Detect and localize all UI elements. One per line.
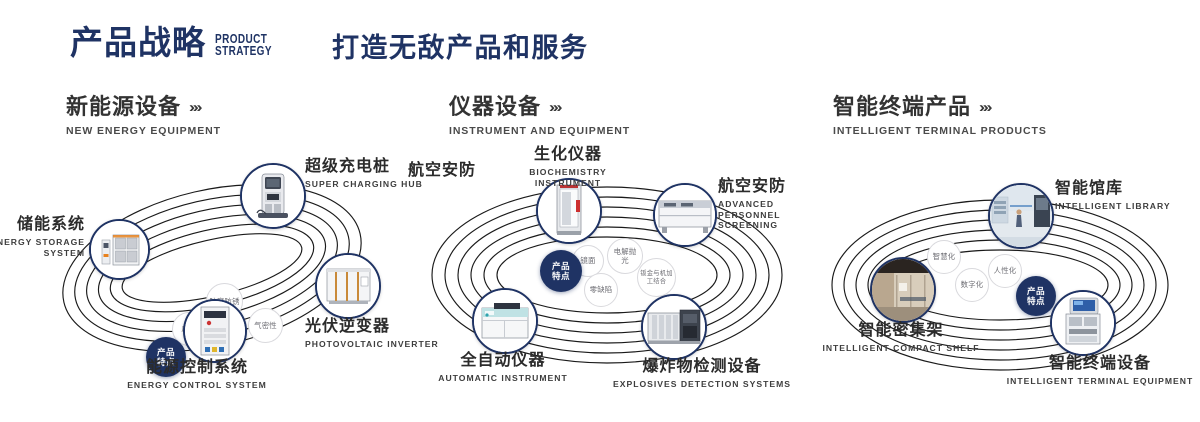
section-heading-cn: 新能源设备 ››› [66, 96, 221, 118]
feature-bubble-label: 钣金与机加工结合 [640, 270, 673, 285]
node-label-en: INTELLIGENT TERMINAL EQUIPMENT [1000, 376, 1200, 387]
node-label-cn: 智能终端设备 [1000, 355, 1200, 373]
node-label-automatic-instrument: 全自动仪器 AUTOMATIC INSTRUMENT [438, 352, 568, 384]
feature-bubble: 数字化 [955, 268, 989, 302]
chevron-right-icon: ››› [549, 100, 560, 115]
section-heading-cn: 智能终端产品 ››› [833, 96, 1047, 118]
cluster-new-energy: 户外 防腐防锈 防水防尘 气密性 产品 特点 [0, 150, 420, 420]
node-advanced-personnel-screening[interactable] [653, 183, 717, 247]
compact-shelf-icon [872, 259, 934, 321]
node-intelligent-compact-shelf[interactable] [870, 257, 936, 323]
node-label-cn: 生化仪器 [523, 146, 613, 164]
node-super-charging-hub[interactable] [240, 163, 306, 229]
core-bubble-line1: 产品 [1027, 286, 1045, 296]
section-heading-cn-text: 仪器设备 [449, 96, 541, 118]
control-cabinet-icon [185, 301, 245, 361]
core-bubble-label: 产品 特点 [552, 261, 570, 282]
poster-root: 产品战略 PRODUCT STRATEGY 打造无敌产品和服务 新能源设备 ››… [0, 0, 1200, 422]
node-label-explosives-detection-systems: 爆炸物检测设备 EXPLOSIVES DETECTION SYSTEMS [612, 358, 792, 390]
node-label-cn: 爆炸物检测设备 [612, 358, 792, 376]
section-heading-cn-text: 新能源设备 [66, 96, 181, 118]
node-label-energy-storage-system: 储能系统 ENERGY STORAGE SYSTEM [0, 216, 85, 258]
automatic-analyzer-icon [474, 290, 536, 352]
node-label-cn: 航空安防 [718, 178, 808, 196]
node-photovoltaic-inverter[interactable] [315, 253, 381, 319]
node-label-en: ENERGY STORAGE SYSTEM [0, 237, 85, 258]
feature-bubble: 零缺陷 [584, 273, 618, 307]
node-label-en: BIOCHEMISTRY INSTRUMENT [523, 167, 613, 188]
page-title: 产品战略 PRODUCT STRATEGY [70, 26, 286, 59]
feature-bubble-label: 智慧化 [933, 252, 956, 261]
section-heading-en: INSTRUMENT AND EQUIPMENT [449, 125, 630, 137]
node-label-en: EXPLOSIVES DETECTION SYSTEMS [612, 379, 792, 390]
chevron-right-icon: ››› [189, 100, 200, 115]
library-interior-icon [990, 185, 1052, 247]
core-bubble-line1: 产品 [552, 261, 570, 271]
chevron-right-icon: ››› [979, 100, 990, 115]
pv-inverter-icon [317, 255, 379, 317]
self-service-kiosk-icon [1052, 292, 1114, 354]
node-label-en: ENERGY CONTROL SYSTEM [82, 380, 312, 391]
node-label-cn: 储能系统 [0, 216, 85, 234]
section-heading-cn: 仪器设备 ››› [449, 96, 630, 118]
page-title-cn: 产品战略 [70, 26, 206, 59]
node-label-intelligent-terminal-equipment: 智能终端设备 INTELLIGENT TERMINAL EQUIPMENT [1000, 355, 1200, 387]
core-bubble-line1: 产品 [157, 347, 175, 357]
node-label-energy-control-system: 能源控制系统 ENERGY CONTROL SYSTEM [82, 359, 312, 391]
node-label-en: AUTOMATIC INSTRUMENT [438, 373, 568, 384]
node-label-cn: 智能馆库 [1055, 180, 1171, 198]
core-bubble-line2: 特点 [552, 271, 570, 281]
node-label-cn: 航空安防 [396, 162, 476, 180]
node-label-biochemistry-instrument: 生化仪器 BIOCHEMISTRY INSTRUMENT [523, 146, 613, 188]
feature-bubble-label: 人性化 [994, 266, 1017, 275]
node-label-cn: 能源控制系统 [82, 359, 312, 377]
node-label-intelligent-library: 智能馆库 INTELLIGENT LIBRARY [1055, 180, 1171, 212]
page-title-en-line2: STRATEGY [215, 44, 272, 58]
node-energy-storage-system[interactable] [89, 219, 150, 280]
battery-cabinet-icon [91, 221, 148, 278]
node-label-en: INTELLIGENT COMPACT SHELF [822, 343, 980, 354]
node-label-cn: 全自动仪器 [438, 352, 568, 370]
section-heading-cn-text: 智能终端产品 [833, 96, 971, 118]
node-label-en: INTELLIGENT LIBRARY [1055, 201, 1171, 212]
biochemistry-scanner-icon [538, 180, 600, 242]
node-label-cn: 智能密集架 [822, 322, 980, 340]
core-bubble-label: 产品 特点 [1027, 286, 1045, 307]
page-subtitle: 打造无敌产品和服务 [332, 35, 589, 62]
node-intelligent-terminal-equipment[interactable] [1050, 290, 1116, 356]
charging-pile-icon [242, 165, 304, 227]
feature-bubble: 人性化 [988, 254, 1022, 288]
feature-bubble: 气密性 [248, 308, 283, 343]
node-label-intelligent-compact-shelf: 智能密集架 INTELLIGENT COMPACT SHELF [822, 322, 980, 354]
node-label-advanced-personnel-screening: 航空安防 ADVANCED PERSONNEL SCREENING [718, 178, 808, 231]
page-title-en: PRODUCT STRATEGY [215, 33, 272, 57]
feature-bubble-label: 数字化 [961, 280, 984, 289]
feature-bubble: 钣金与机加工结合 [637, 258, 676, 297]
core-bubble: 产品 特点 [540, 250, 582, 292]
section-heading-new-energy: 新能源设备 ››› NEW ENERGY EQUIPMENT [66, 96, 221, 137]
screening-machine-icon [655, 185, 715, 245]
section-heading-en: NEW ENERGY EQUIPMENT [66, 125, 221, 137]
node-automatic-instrument[interactable] [472, 288, 538, 354]
feature-bubble-label: 零缺陷 [590, 285, 613, 294]
section-heading-intelligent-terminal: 智能终端产品 ››› INTELLIGENT TERMINAL PRODUCTS [833, 96, 1047, 137]
feature-bubble-label: 镜面 [580, 256, 595, 265]
explosives-detector-icon [643, 296, 705, 358]
node-intelligent-library[interactable] [988, 183, 1054, 249]
node-label-en: ADVANCED PERSONNEL SCREENING [718, 199, 808, 231]
cluster-instrument: 镜面 电解抛光 零缺陷 钣金与机加工结合 产品 特点 [400, 150, 820, 420]
section-heading-instrument: 仪器设备 ››› INSTRUMENT AND EQUIPMENT [449, 96, 630, 137]
feature-bubble: 电解抛光 [607, 238, 643, 274]
feature-bubble-label: 气密性 [254, 321, 277, 330]
node-energy-control-system[interactable] [183, 299, 247, 363]
core-bubble-line2: 特点 [1027, 296, 1045, 306]
section-heading-en: INTELLIGENT TERMINAL PRODUCTS [833, 125, 1047, 137]
node-explosives-detection-systems[interactable] [641, 294, 707, 360]
node-label-aviation-security-side: 航空安防 [396, 162, 476, 180]
cluster-intelligent-terminal: 智慧化 数字化 人性化 产品 特点 [800, 150, 1200, 420]
feature-bubble-label: 电解抛光 [610, 247, 640, 265]
core-bubble: 产品 特点 [1016, 276, 1056, 316]
